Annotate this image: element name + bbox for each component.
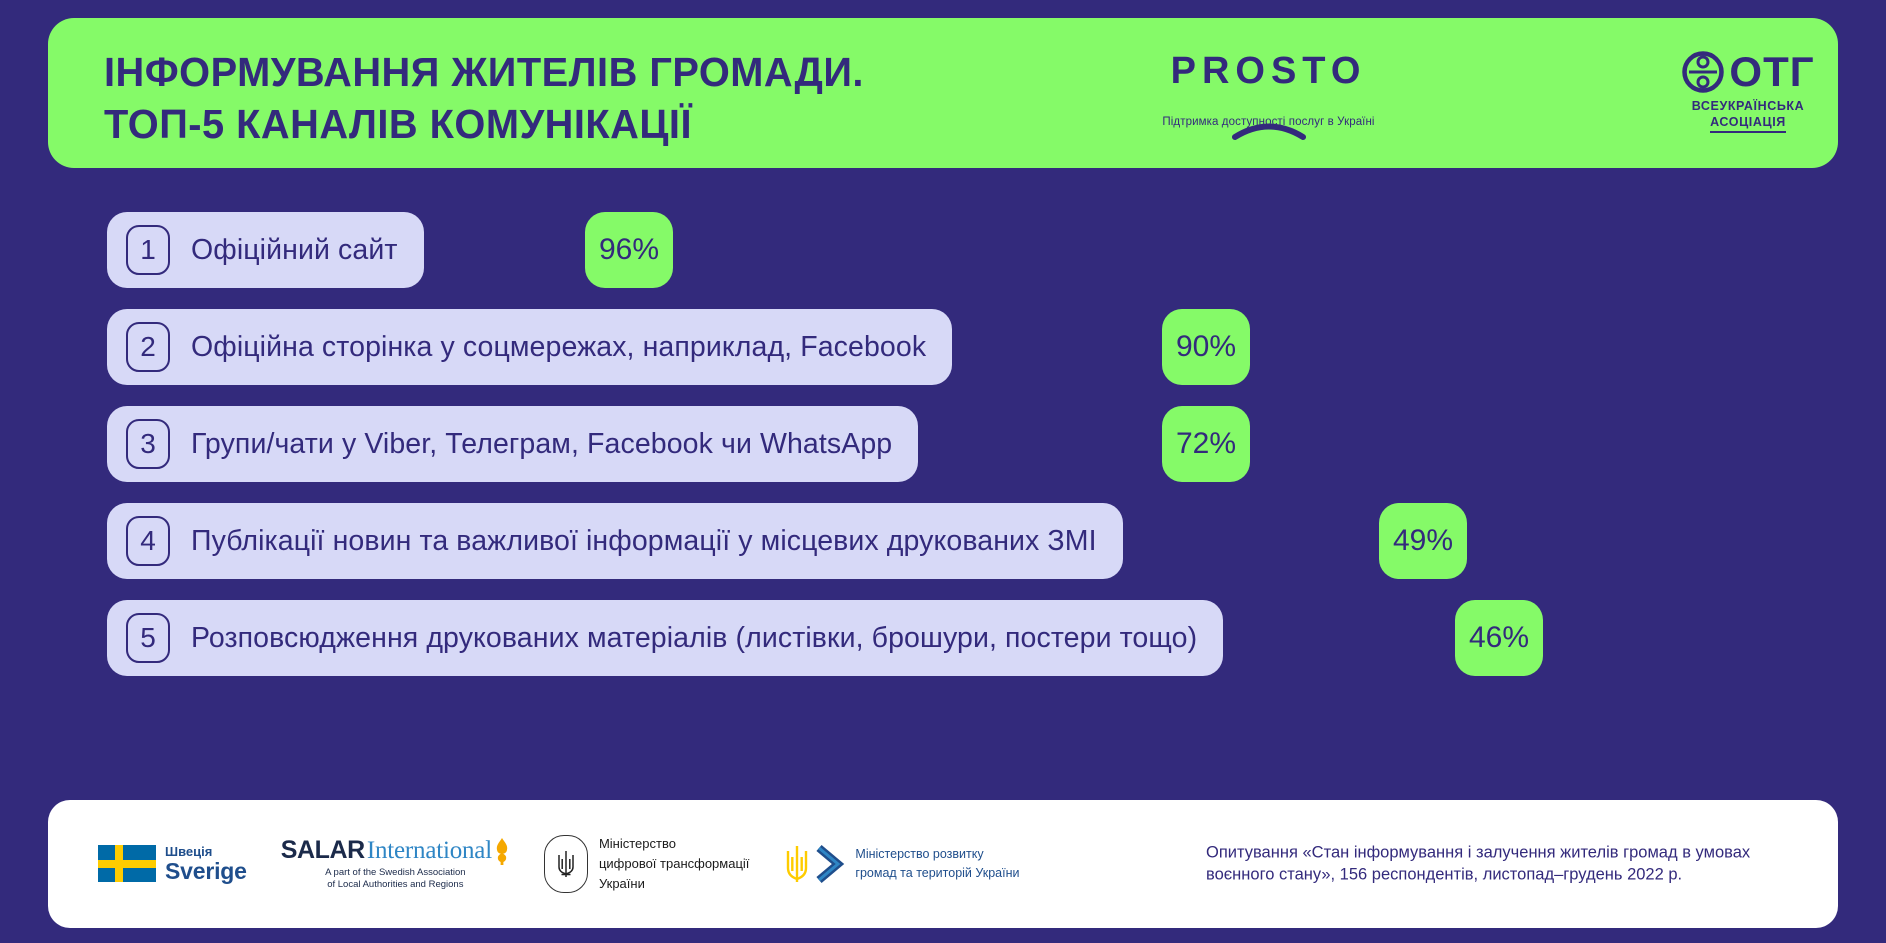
salar-sublabel: A part of the Swedish Association of Loc… bbox=[281, 867, 510, 892]
channel-label: Офіційний сайт bbox=[191, 234, 424, 267]
footer-card: Швеція Sverige SALAR International A par… bbox=[48, 800, 1838, 928]
rank-number: 4 bbox=[126, 516, 170, 566]
sweden-label-sv: Sverige bbox=[165, 859, 247, 883]
channel-pill: 4 Публікації новин та важливої інформаці… bbox=[107, 503, 1123, 579]
ministry-digital-line-3: України bbox=[599, 874, 749, 894]
otg-sublabel: ВСЕУКРАЇНСЬКА АСОЦІАЦІЯ bbox=[1692, 99, 1805, 133]
partner-logos: Швеція Sverige SALAR International A par… bbox=[98, 834, 1020, 894]
rank-number: 3 bbox=[126, 419, 170, 469]
ministry-development-label: Міністерство розвитку громад та територі… bbox=[855, 845, 1019, 883]
channel-label: Офіційна сторінка у соцмережах, наприкла… bbox=[191, 331, 952, 364]
page-title-line-1: ІНФОРМУВАННЯ ЖИТЕЛІВ ГРОМАДИ. bbox=[104, 46, 864, 98]
page-title: ІНФОРМУВАННЯ ЖИТЕЛІВ ГРОМАДИ. ТОП-5 КАНА… bbox=[104, 46, 887, 151]
list-item: 2 Офіційна сторінка у соцмережах, наприк… bbox=[107, 309, 1827, 385]
prosto-wordmark: PROSTO bbox=[1146, 52, 1391, 94]
otg-logo-top: ОТГ bbox=[1681, 50, 1814, 94]
channel-pill: 1 Офіційний сайт bbox=[107, 212, 424, 288]
percentage-badge: 96% bbox=[585, 212, 673, 288]
percentage-badge: 46% bbox=[1455, 600, 1543, 676]
ministry-development-line-2: громад та територій України bbox=[855, 864, 1019, 883]
list-item: 5 Розповсюдження друкованих матеріалів (… bbox=[107, 600, 1827, 676]
header-card: ІНФОРМУВАННЯ ЖИТЕЛІВ ГРОМАДИ. ТОП-5 КАНА… bbox=[48, 18, 1838, 168]
rank-number: 5 bbox=[126, 613, 170, 663]
ranking-list: 1 Офіційний сайт 96% 2 Офіційна сторінка… bbox=[107, 212, 1827, 697]
ministry-development-line-1: Міністерство розвитку bbox=[855, 845, 1019, 864]
ministry-development-marks bbox=[783, 842, 846, 886]
list-item: 1 Офіційний сайт 96% bbox=[107, 212, 1827, 288]
salar-wordmark: SALAR International bbox=[281, 836, 510, 865]
channel-label: Групи/чати у Viber, Телеграм, Facebook ч… bbox=[191, 428, 918, 461]
salar-logo: SALAR International A part of the Swedis… bbox=[281, 836, 510, 892]
otg-sublabel-line-1: ВСЕУКРАЇНСЬКА bbox=[1692, 99, 1805, 115]
ministry-digital-line-2: цифрової трансформації bbox=[599, 854, 749, 874]
list-item: 4 Публікації новин та важливої інформаці… bbox=[107, 503, 1827, 579]
smile-arc-icon bbox=[1232, 120, 1306, 140]
percentage-badge: 90% bbox=[1162, 309, 1250, 385]
otg-letters: ОТГ bbox=[1729, 52, 1814, 92]
channel-pill: 2 Офіційна сторінка у соцмережах, наприк… bbox=[107, 309, 952, 385]
list-item: 3 Групи/чати у Viber, Телеграм, Facebook… bbox=[107, 406, 1827, 482]
sweden-label-uk: Швеція bbox=[165, 845, 247, 859]
chevron-right-icon bbox=[816, 842, 846, 886]
channel-pill: 3 Групи/чати у Viber, Телеграм, Facebook… bbox=[107, 406, 918, 482]
ministry-digital-label: Міністерство цифрової трансформації Укра… bbox=[599, 834, 749, 894]
channel-label: Публікації новин та важливої інформації … bbox=[191, 525, 1123, 558]
otg-circle-icon bbox=[1681, 50, 1725, 94]
page-title-line-2: ТОП-5 КАНАЛІВ КОМУНІКАЦІЇ bbox=[104, 98, 864, 150]
survey-note: Опитування «Стан інформування і залученн… bbox=[1206, 842, 1796, 887]
otg-sublabel-line-2: АСОЦІАЦІЯ bbox=[1710, 115, 1786, 134]
rank-number: 2 bbox=[126, 322, 170, 372]
salar-flame-icon bbox=[494, 837, 510, 865]
salar-sublabel-line-1: A part of the Swedish Association bbox=[281, 867, 510, 879]
prosto-logo: PROSTO Підтримка доступності послуг в Ук… bbox=[1146, 52, 1391, 128]
ukraine-trident-icon bbox=[555, 848, 577, 880]
ministry-development-logo: Міністерство розвитку громад та територі… bbox=[783, 842, 1019, 886]
salar-light-text: International bbox=[367, 837, 492, 865]
trident-badge bbox=[544, 835, 588, 893]
sweden-flag-icon bbox=[98, 845, 156, 882]
channel-label: Розповсюдження друкованих матеріалів (ли… bbox=[191, 622, 1223, 655]
channel-pill: 5 Розповсюдження друкованих матеріалів (… bbox=[107, 600, 1223, 676]
ministry-digital-logo: Міністерство цифрової трансформації Укра… bbox=[544, 834, 749, 894]
sweden-logo: Швеція Sverige bbox=[98, 845, 247, 883]
otg-logo: ОТГ ВСЕУКРАЇНСЬКА АСОЦІАЦІЯ bbox=[1658, 50, 1838, 133]
percentage-badge: 49% bbox=[1379, 503, 1467, 579]
salar-bold-text: SALAR bbox=[281, 836, 365, 865]
ministry-digital-line-1: Міністерство bbox=[599, 834, 749, 854]
percentage-badge: 72% bbox=[1162, 406, 1250, 482]
ukraine-trident-icon bbox=[783, 842, 811, 886]
sweden-label: Швеція Sverige bbox=[165, 845, 247, 883]
rank-number: 1 bbox=[126, 225, 170, 275]
salar-sublabel-line-2: of Local Authorities and Regions bbox=[281, 879, 510, 891]
